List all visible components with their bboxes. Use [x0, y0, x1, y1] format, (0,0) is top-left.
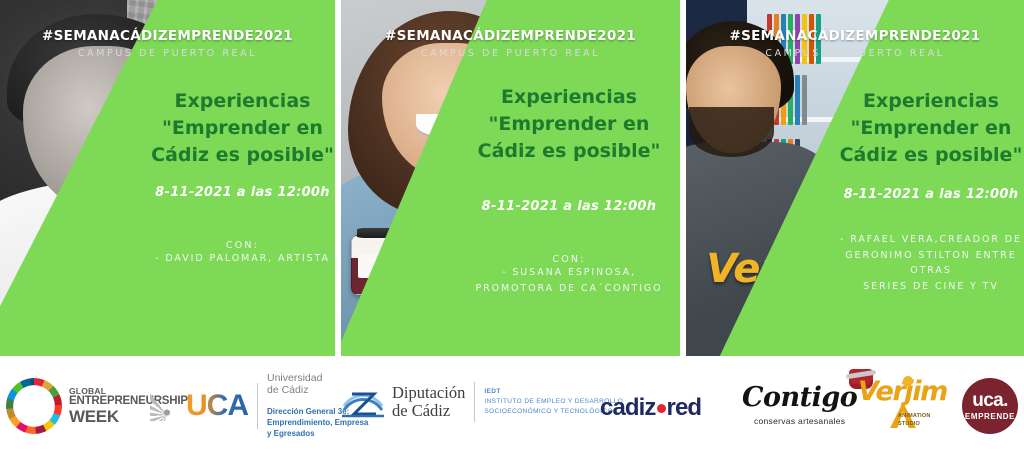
- uca-acronym: UCA: [186, 391, 248, 421]
- colored-ring-icon: [6, 378, 62, 434]
- verjim-tagline: ANIMATION STUDIO: [898, 412, 931, 429]
- title-line-2: "Emprender en: [836, 115, 1024, 142]
- title-line-1: Experiencias: [469, 84, 669, 111]
- con-label: CON:: [150, 240, 335, 251]
- uca-crest-icon: [150, 391, 184, 421]
- title-line-1: Experiencias: [836, 88, 1024, 115]
- uca-emprende-line-2: EMPRENDE: [965, 412, 1015, 421]
- poster-page: #SEMANACÁDIZEMPRENDE2021 CAMPUS DE PUERT…: [0, 0, 1024, 451]
- speaker-block: CON: - DAVID PALOMAR, ARTISTA: [150, 240, 335, 267]
- speaker-name-line-2: GERONIMO STILTON ENTRE OTRAS: [836, 248, 1024, 279]
- speaker-name-line-1: - SUSANA ESPINOSA,: [469, 265, 669, 281]
- panel-susana-espinosa[interactable]: #SEMANACÁDIZEMPRENDE2021 CAMPUS DE PUERT…: [341, 0, 680, 356]
- contigo-word: Contigo: [742, 382, 857, 413]
- verjim-mark: Verjim ANIMATION STUDIO: [858, 378, 932, 434]
- panel-body-text: Experiencias "Emprender en Cádiz es posi…: [150, 88, 335, 267]
- title-line-3: Cádiz es posible": [150, 142, 335, 169]
- event-date: 8-11-2021 a las 12:00h: [836, 187, 1024, 202]
- panel-rafael-vera[interactable]: Verjim #SEMANACÁDIZEMPRENDE2021 CAMPUS D…: [686, 0, 1024, 356]
- beard: [689, 107, 774, 157]
- verjim-tagline-2: STUDIO: [898, 420, 931, 428]
- contigo-wordmark: Contigo: [742, 384, 857, 411]
- event-date: 8-11-2021 a las 12:00h: [150, 185, 335, 200]
- logo-contigo-conservas[interactable]: Contigo conservas artesanales: [742, 384, 857, 426]
- diputacion-line-2: de Cádiz: [392, 402, 465, 420]
- speaker-block: CON: - SUSANA ESPINOSA, PROMOTORA DE CA´…: [469, 254, 669, 296]
- diputacion-wordmark: Diputación de Cádiz: [392, 384, 465, 421]
- footer-logo-bar: GLOBAL ENTREPRENEURSHIP WEEK UCA Univers…: [0, 356, 1024, 451]
- logo-verjim-animation-studio[interactable]: Verjim ANIMATION STUDIO: [858, 378, 932, 434]
- speaker-name-line-3: SERIES DE CINE Y TV: [836, 279, 1024, 295]
- divider: [257, 383, 258, 429]
- divider: [474, 382, 475, 422]
- dept-line-3: y Egresados: [267, 428, 368, 439]
- cadizred-wordmark: cadiz red: [600, 394, 701, 422]
- logo-universidad-de-cadiz[interactable]: UCA Universidad de Cádiz Dirección Gener…: [150, 372, 368, 440]
- title-line-1: Experiencias: [150, 88, 335, 115]
- diputacion-mark-icon: [340, 382, 386, 422]
- uca-emprende-badge: uca. EMPRENDE: [962, 378, 1018, 434]
- speaker-name: - DAVID PALOMAR, ARTISTA: [150, 251, 335, 267]
- title-line-2: "Emprender en: [150, 115, 335, 142]
- panel-body-text: Experiencias "Emprender en Cádiz es posi…: [836, 88, 1024, 295]
- banner-strip: #SEMANACÁDIZEMPRENDE2021 CAMPUS DE PUERT…: [0, 0, 1024, 356]
- event-date: 8-11-2021 a las 12:00h: [469, 199, 669, 214]
- verjim-wordmark: Verjim: [858, 378, 932, 405]
- title-line-2: "Emprender en: [469, 111, 669, 138]
- cadizred-part-1: cadiz: [600, 394, 656, 422]
- cadizred-part-2: red: [667, 394, 702, 422]
- event-title: Experiencias "Emprender en Cádiz es posi…: [469, 84, 669, 165]
- event-title: Experiencias "Emprender en Cádiz es posi…: [836, 88, 1024, 169]
- verjim-tagline-1: ANIMATION: [898, 412, 931, 420]
- title-line-3: Cádiz es posible": [836, 142, 1024, 169]
- speaker-name-line-2: PROMOTORA DE CA´CONTIGO: [469, 281, 669, 297]
- contigo-tagline: conservas artesanales: [754, 416, 845, 426]
- speaker-block: - RAFAEL VERA,CREADOR DE GERONIMO STILTO…: [836, 232, 1024, 295]
- red-dot-icon: [657, 404, 666, 413]
- con-label: CON:: [469, 254, 669, 265]
- logo-diputacion-de-cadiz[interactable]: Diputación de Cádiz IEDT INSTITUTO DE EM…: [340, 382, 623, 422]
- diputacion-line-1: Diputación: [392, 384, 465, 402]
- panel-david-palomar[interactable]: #SEMANACÁDIZEMPRENDE2021 CAMPUS DE PUERT…: [0, 0, 335, 356]
- logo-cadiz-red[interactable]: cadiz red: [600, 394, 701, 422]
- panel-body-text: Experiencias "Emprender en Cádiz es posi…: [469, 84, 669, 296]
- logo-uca-emprende[interactable]: uca. EMPRENDE: [962, 378, 1018, 434]
- title-line-3: Cádiz es posible": [469, 138, 669, 165]
- speaker-name-line-1: - RAFAEL VERA,CREADOR DE: [836, 232, 1024, 248]
- uca-emprende-line-1: uca.: [972, 391, 1008, 410]
- event-title: Experiencias "Emprender en Cádiz es posi…: [150, 88, 335, 169]
